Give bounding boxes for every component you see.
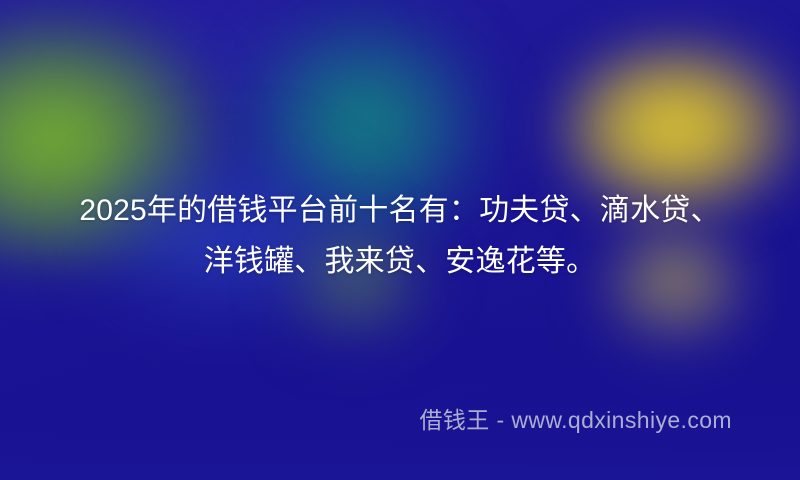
- headline-text: 2025年的借钱平台前十名有：功夫贷、滴水贷、 洋钱罐、我来贷、安逸花等。: [0, 185, 800, 287]
- cover-content: 2025年的借钱平台前十名有：功夫贷、滴水贷、 洋钱罐、我来贷、安逸花等。 借钱…: [0, 0, 800, 480]
- cover-image-canvas: 2025年的借钱平台前十名有：功夫贷、滴水贷、 洋钱罐、我来贷、安逸花等。 借钱…: [0, 0, 800, 480]
- watermark-text: 借钱王 - www.qdxinshiye.com: [419, 405, 732, 435]
